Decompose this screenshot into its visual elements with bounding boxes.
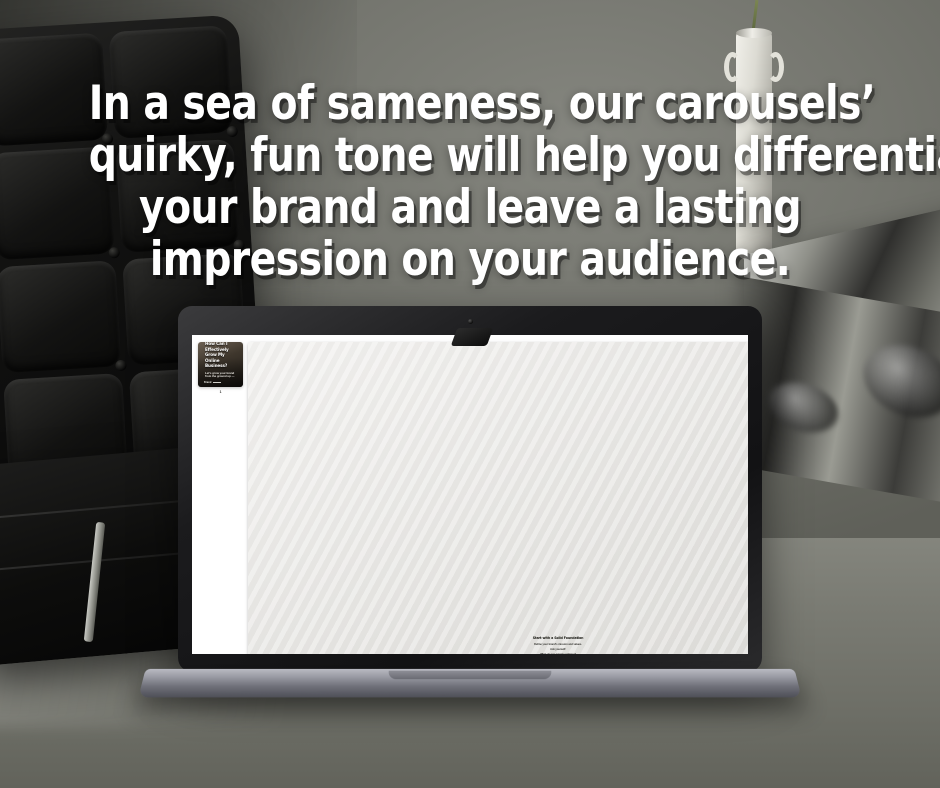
laptop-screen: How Can I Effectively Grow My Online Bus… bbox=[192, 335, 748, 654]
card-content: How Can I Effectively Grow My Online Bus… bbox=[202, 342, 239, 383]
vase-mouth bbox=[736, 28, 772, 38]
headline-line-3: your brand and leave a lasting bbox=[89, 182, 852, 234]
card-brand-logo: Brand bbox=[204, 381, 211, 384]
card-number: 1 bbox=[220, 390, 222, 394]
laptop-base bbox=[138, 669, 801, 698]
laptop-base-notch bbox=[388, 671, 552, 679]
carousel-card[interactable]: Start with a Solid FoundationDefine your… bbox=[248, 342, 748, 654]
headline: In a sea of sameness, our carousels’ qui… bbox=[33, 78, 907, 286]
card-content: Start with a Solid FoundationDefine your… bbox=[252, 636, 748, 654]
carousel-card-grid[interactable]: How Can I Effectively Grow My Online Bus… bbox=[192, 335, 748, 654]
card-body-line: Define your brand's mission and values. bbox=[252, 643, 748, 646]
card-title: Start with a Solid Foundation bbox=[252, 636, 748, 640]
headline-line-1: In a sea of sameness, our carousels’ bbox=[89, 78, 852, 130]
card-body-line: What do you want to achieve? bbox=[252, 653, 748, 654]
headline-line-2: quirky, fun tone will help you different… bbox=[89, 130, 852, 182]
card-footer-rule bbox=[213, 382, 221, 383]
card-body-line: Ask yourself: bbox=[252, 648, 748, 651]
carousel-card[interactable]: How Can I Effectively Grow My Online Bus… bbox=[198, 342, 243, 387]
laptop-lid: How Can I Effectively Grow My Online Bus… bbox=[178, 306, 762, 672]
card-title: How Can I Effectively Grow My Online Bus… bbox=[205, 342, 236, 369]
webcam-icon bbox=[468, 319, 473, 324]
laptop-device: How Can I Effectively Grow My Online Bus… bbox=[178, 306, 762, 706]
promotional-image: In a sea of sameness, our carousels’ qui… bbox=[0, 0, 940, 788]
carousel-cell: How Can I Effectively Grow My Online Bus… bbox=[198, 342, 243, 654]
card-footer: Brand bbox=[198, 381, 243, 384]
card-body-line: Let's grow your brand from the ground up… bbox=[205, 372, 236, 379]
carousel-cell: Start with a Solid FoundationDefine your… bbox=[248, 342, 748, 654]
headline-line-4: impression on your audience. bbox=[89, 234, 852, 286]
laptop-foot-shadow bbox=[451, 328, 494, 346]
